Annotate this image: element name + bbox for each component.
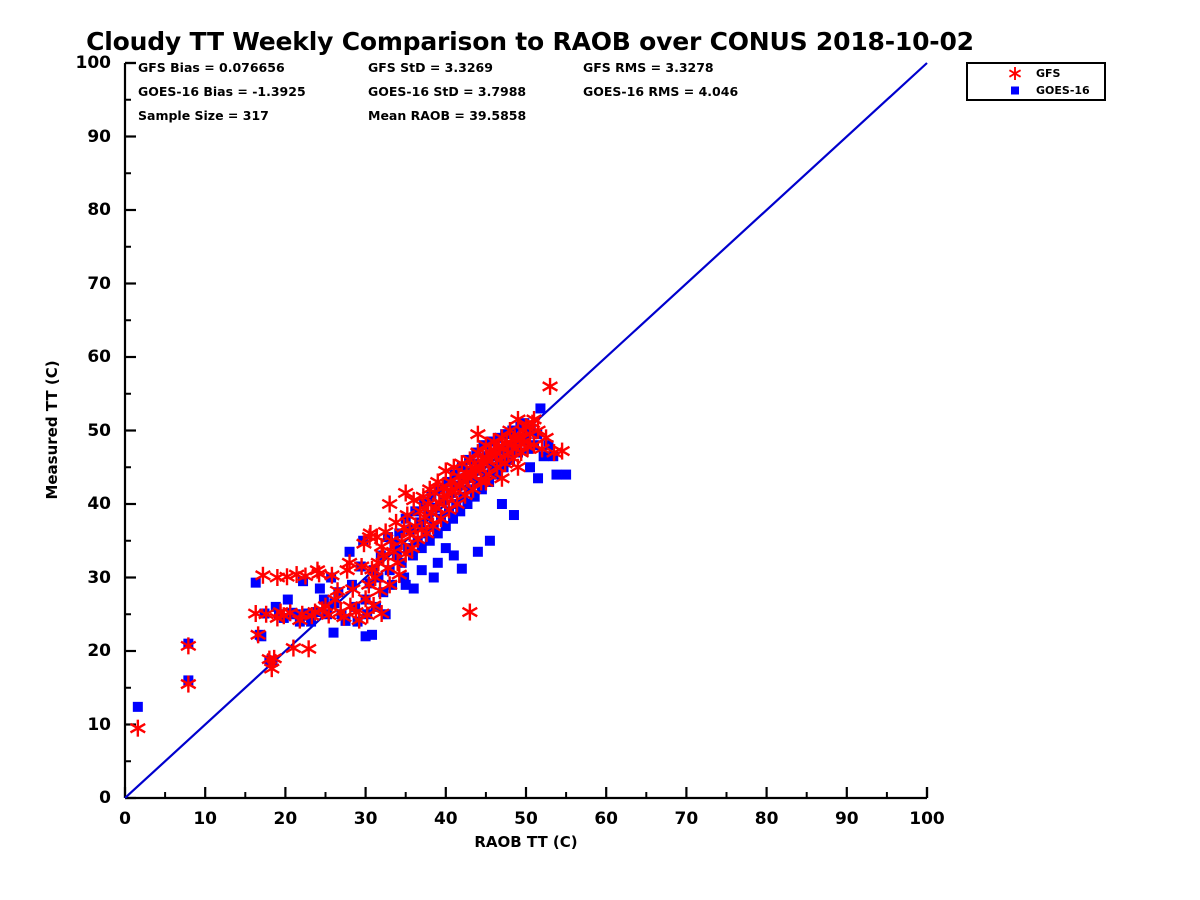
x-tick-label: 100 — [909, 809, 945, 829]
x-tick-label: 60 — [594, 809, 618, 829]
y-tick-label: 50 — [0, 421, 111, 441]
chart-legend: GFS GOES-16 — [966, 62, 1106, 101]
y-tick-label: 10 — [0, 715, 111, 735]
y-tick-label: 90 — [0, 127, 111, 147]
legend-label-gfs: GFS — [1036, 65, 1060, 82]
square-icon — [1006, 82, 1024, 99]
x-tick-label: 70 — [675, 809, 699, 829]
y-tick-label: 70 — [0, 274, 111, 294]
chart-figure: Cloudy TT Weekly Comparison to RAOB over… — [0, 0, 1200, 900]
x-tick-label: 20 — [274, 809, 298, 829]
legend-entry-goes16: GOES-16 — [968, 82, 1104, 99]
y-tick-label: 100 — [0, 53, 111, 73]
x-tick-label: 40 — [434, 809, 458, 829]
y-tick-label: 0 — [0, 788, 111, 808]
y-tick-label: 60 — [0, 347, 111, 367]
x-tick-label: 30 — [354, 809, 378, 829]
x-tick-label: 10 — [193, 809, 217, 829]
scatter-plot-canvas — [0, 0, 1200, 900]
x-tick-label: 0 — [119, 809, 131, 829]
y-tick-label: 80 — [0, 200, 111, 220]
legend-label-goes16: GOES-16 — [1036, 82, 1090, 99]
y-tick-label: 30 — [0, 568, 111, 588]
y-tick-label: 20 — [0, 641, 111, 661]
x-tick-label: 80 — [755, 809, 779, 829]
x-tick-label: 90 — [835, 809, 859, 829]
asterisk-icon — [1006, 65, 1024, 82]
legend-entry-gfs: GFS — [968, 65, 1104, 82]
y-tick-label: 40 — [0, 494, 111, 514]
x-tick-label: 50 — [514, 809, 538, 829]
